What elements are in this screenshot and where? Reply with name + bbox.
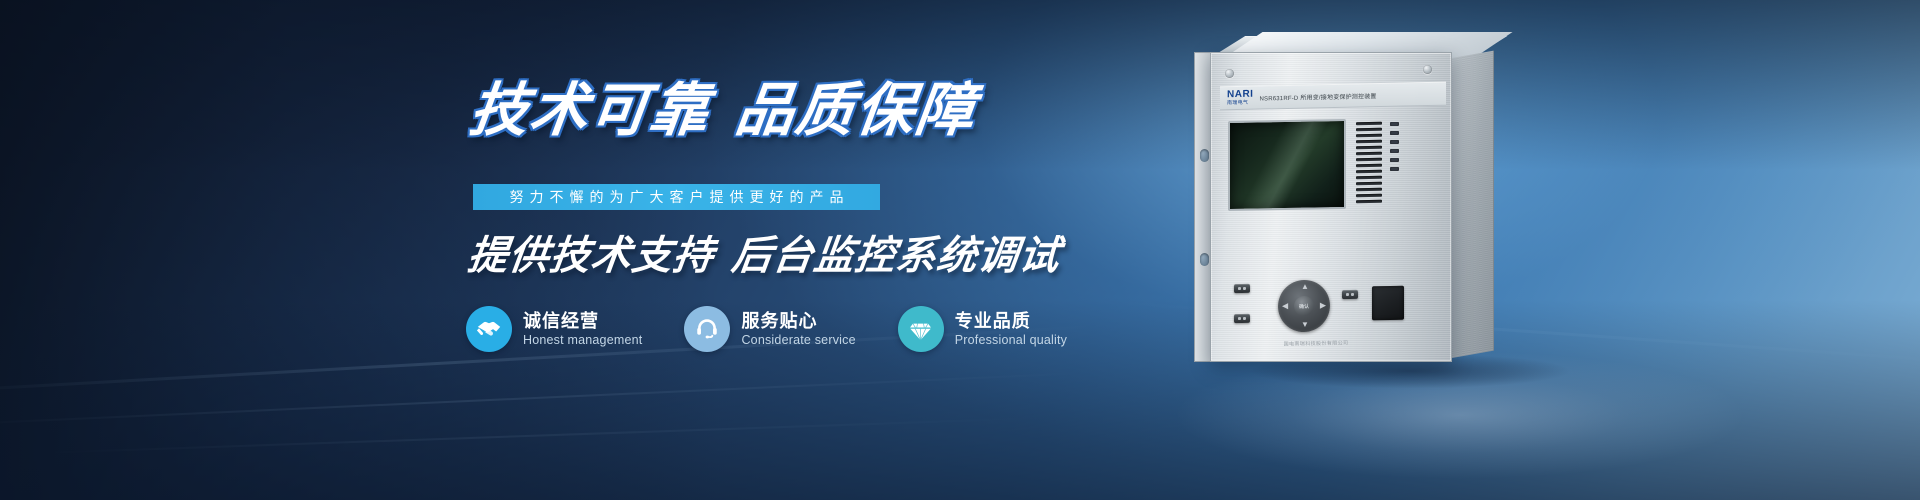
feature-item-professional-quality: 专业品质 Professional quality [898,306,1067,352]
headline-secondary: 提供技术支持后台监控系统调试 [465,232,1063,280]
feature-title-en: Considerate service [741,332,855,349]
feature-item-considerate-service: 服务贴心 Considerate service [684,306,855,352]
dpad-right-icon[interactable]: ▶ [1320,302,1326,310]
mounting-hole [1200,253,1209,266]
promo-banner: 技术可靠品质保障 努力不懈的为广大客户提供更好的产品 提供技术支持后台监控系统调… [0,0,1920,500]
device-lcd-screen [1228,119,1346,211]
brand-name-cn: 南瑞电气 [1227,101,1253,107]
device-model-text: NSR631RF-D 所用变/接地变保护测控装置 [1259,91,1376,102]
feature-title-cn: 服务贴心 [741,310,855,332]
device-function-button[interactable] [1342,290,1358,299]
device-vent-grille [1356,122,1382,206]
headline-primary-part1: 技术可靠 [466,78,714,143]
subtitle-bar: 努力不懈的为广大客户提供更好的产品 [473,184,880,210]
panel-screw [1423,65,1432,74]
headset-icon [684,306,730,352]
feature-list: 诚信经营 Honest management 服务贴心 Cons [466,306,1067,352]
mounting-hole [1200,149,1209,162]
headline-secondary-part2: 后台监控系统调试 [729,234,1062,278]
headline-primary-part2: 品质保障 [732,78,980,143]
feature-title-en: Professional quality [955,332,1067,349]
dpad-left-icon[interactable]: ◀ [1282,302,1288,310]
feature-text: 诚信经营 Honest management [523,310,642,349]
nari-logo: NARI 南瑞电气 [1227,90,1253,107]
feature-text: 专业品质 Professional quality [955,310,1067,349]
brand-name-en: NARI [1227,90,1253,101]
feature-text: 服务贴心 Considerate service [741,310,855,349]
banner-copy: 技术可靠品质保障 努力不懈的为广大客户提供更好的产品 提供技术支持后台监控系统调… [0,0,960,500]
panel-screw [1225,69,1234,78]
device-function-button[interactable] [1234,284,1250,293]
device-indicator-leds [1390,122,1399,176]
feature-title-cn: 专业品质 [955,310,1067,332]
device-brand-label: NARI 南瑞电气 NSR631RF-D 所用变/接地变保护测控装置 [1220,82,1446,111]
device-side-face [1452,51,1494,358]
screen-glare [1230,121,1344,209]
handshake-icon [466,306,512,352]
product-device: NARI 南瑞电气 NSR631RF-D 所用变/接地变保护测控装置 ▲ ▼ [1150,18,1590,398]
feature-item-honest-management: 诚信经营 Honest management [466,306,642,352]
subtitle-text: 努力不懈的为广大客户提供更好的产品 [504,187,850,207]
feature-title-en: Honest management [523,332,642,349]
diamond-icon [898,306,944,352]
feature-title-cn: 诚信经营 [523,310,642,332]
dpad-up-icon[interactable]: ▲ [1301,283,1309,291]
dpad-down-icon[interactable]: ▼ [1301,321,1309,329]
headline-primary: 技术可靠品质保障 [466,78,980,144]
device-comm-port [1372,286,1404,321]
device-function-button[interactable] [1234,314,1250,323]
headline-secondary-part1: 提供技术支持 [465,234,716,278]
device-dpad[interactable]: ▲ ▼ ◀ ▶ 确认 [1278,280,1330,333]
